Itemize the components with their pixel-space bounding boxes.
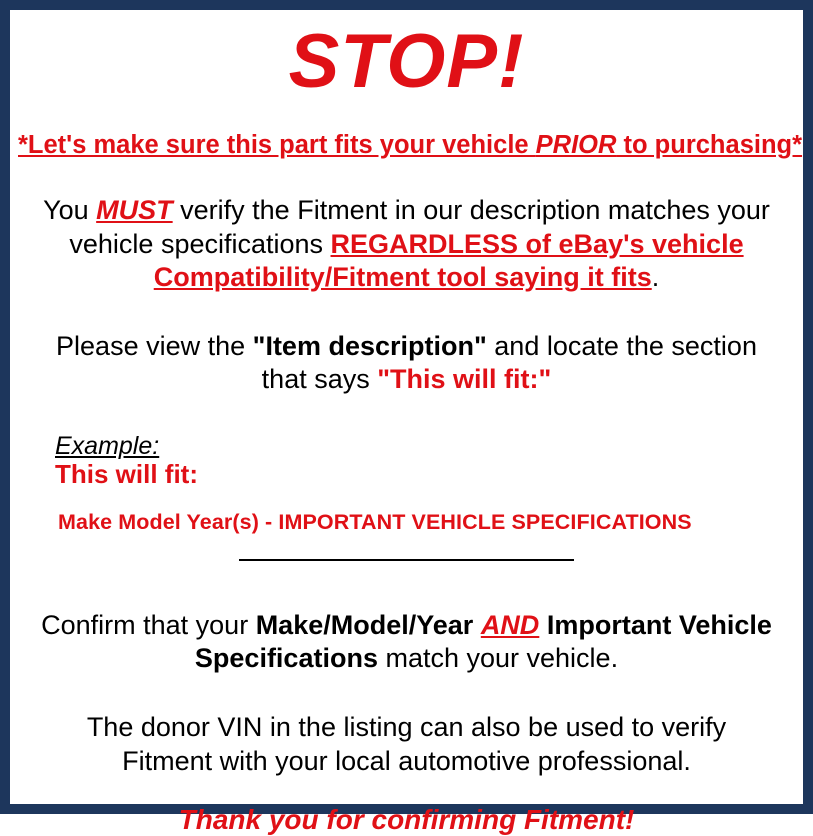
confirm-emphasis-and: AND (481, 610, 540, 640)
example-spec-line: Make Model Year(s) - IMPORTANT VEHICLE S… (55, 489, 795, 535)
confirm-emphasis-make-model-year: Make/Model/Year (256, 610, 474, 640)
subheadline-emphasis-prior: PRIOR (536, 131, 617, 159)
paragraph-donor-vin: The donor VIN in the listing can also be… (18, 675, 795, 777)
paragraph-view-description: Please view the "Item description" and l… (18, 294, 795, 396)
fitment-notice-body: STOP! *Let's make sure this part fits yo… (10, 10, 803, 804)
fitment-notice-frame: STOP! *Let's make sure this part fits yo… (0, 0, 813, 814)
confirm-space-1 (473, 610, 481, 640)
view-text-1: Please view the (56, 331, 253, 361)
must-text-1: You (43, 195, 96, 225)
paragraph-confirm-match: Confirm that your Make/Model/Year AND Im… (18, 579, 795, 675)
confirm-text-2: match your vehicle. (378, 643, 618, 673)
confirm-space-2 (539, 610, 547, 640)
paragraph-must-verify: You MUST verify the Fitment in our descr… (18, 160, 795, 294)
section-divider (239, 559, 574, 561)
must-emphasis-must: MUST (96, 195, 173, 225)
subheadline-text-before: *Let's make sure this part fits your veh… (18, 131, 536, 159)
stop-headline: STOP! (18, 10, 795, 100)
example-fits-heading: This will fit: (55, 460, 795, 489)
subheadline-text-after: to purchasing* (616, 131, 802, 159)
closing-thank-you: Thank you for confirming Fitment! (18, 778, 795, 836)
subheadline: *Let's make sure this part fits your veh… (18, 100, 795, 160)
must-text-3: . (652, 262, 660, 292)
example-label: Example: (55, 432, 795, 460)
view-emphasis-this-will-fit: "This will fit:" (377, 364, 551, 394)
divider-wrapper (18, 535, 795, 579)
view-emphasis-item-description: "Item description" (253, 331, 487, 361)
example-block: Example: This will fit: Make Model Year(… (18, 396, 795, 535)
confirm-text-1: Confirm that your (41, 610, 256, 640)
